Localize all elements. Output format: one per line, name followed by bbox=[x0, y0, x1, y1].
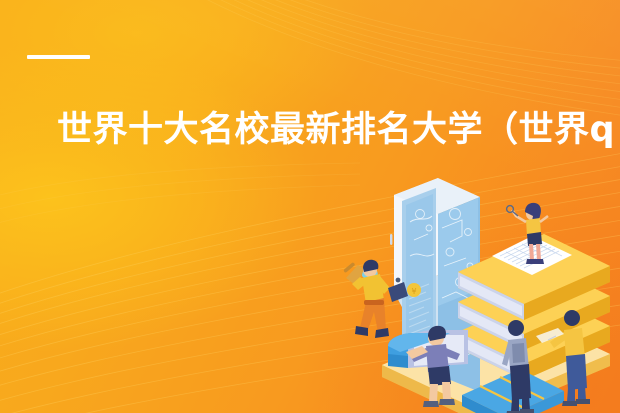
promo-banner: 世界十大名校最新排名大学（世界q bbox=[0, 0, 620, 413]
title-accent-rule bbox=[27, 55, 90, 59]
education-illustration: ¥ bbox=[310, 170, 620, 413]
page-title: 世界十大名校最新排名大学（世界q bbox=[57, 108, 620, 152]
svg-text:¥: ¥ bbox=[411, 287, 416, 296]
